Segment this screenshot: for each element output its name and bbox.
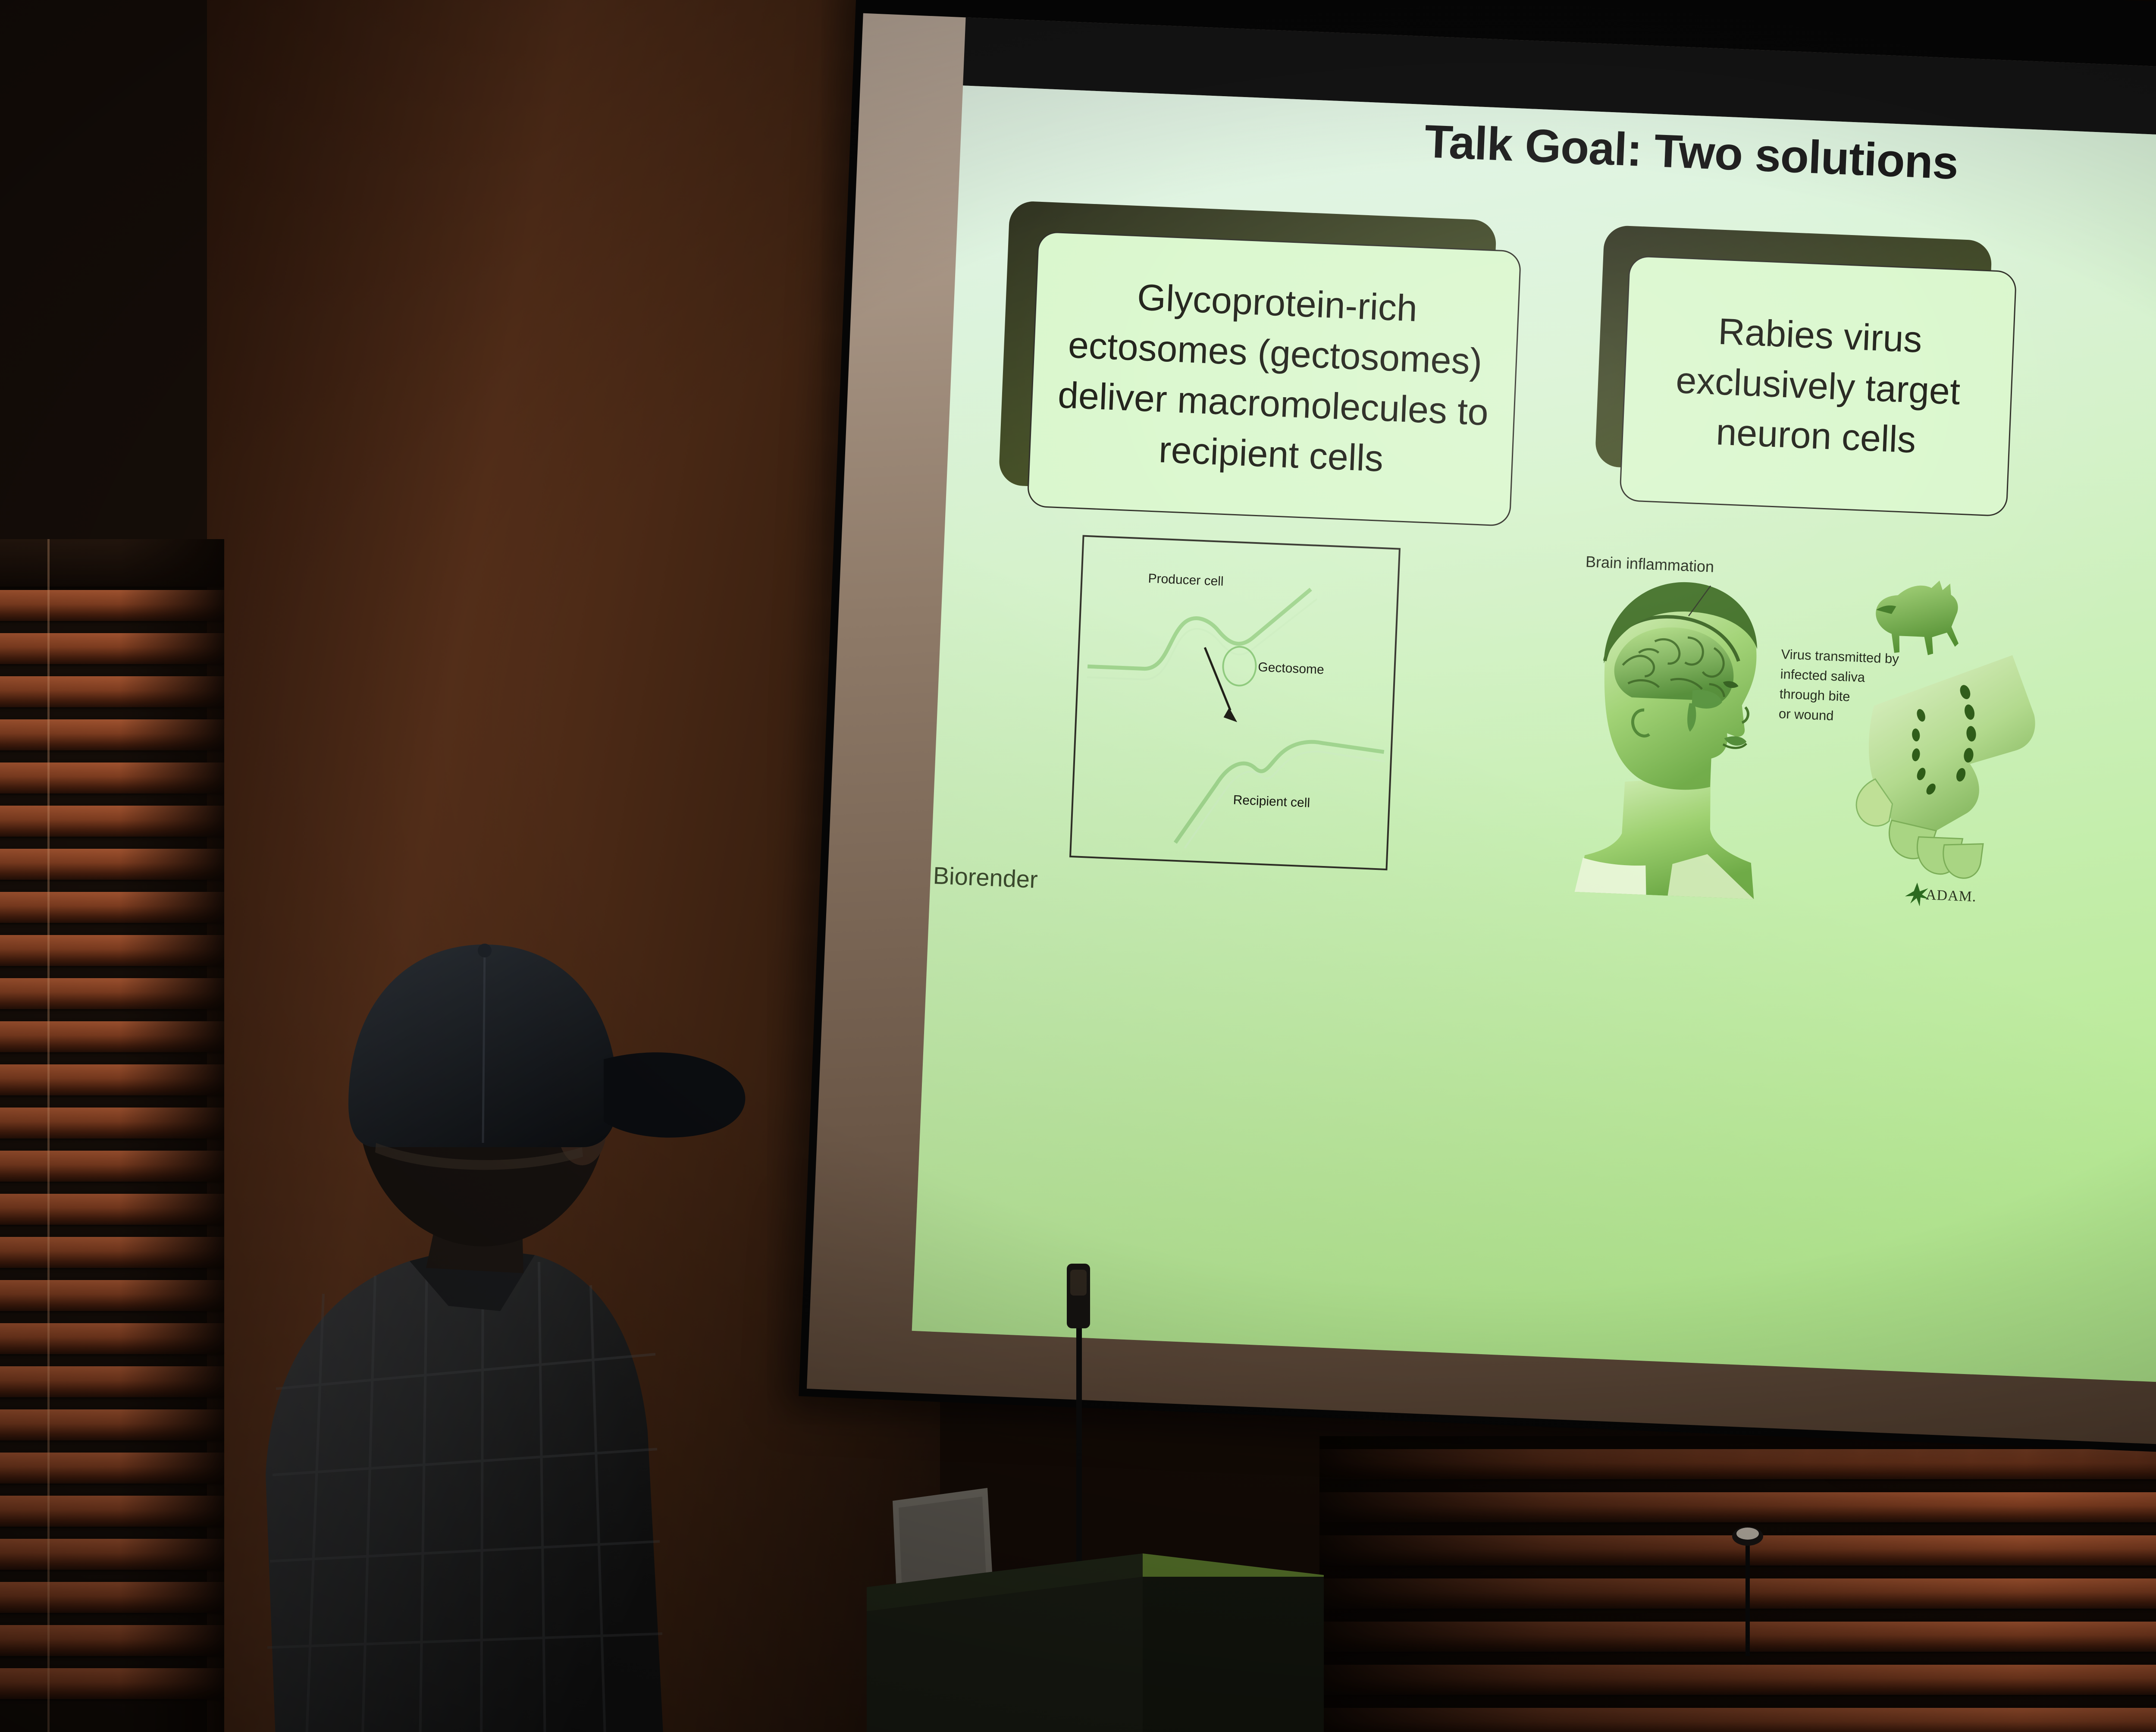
microphone-right [1716, 1514, 1785, 1656]
blind-cord-left[interactable] [47, 539, 50, 1732]
label-brain-inflammation: Brain inflammation [1585, 552, 1714, 575]
label-gectosome: Gectosome [1258, 660, 1325, 677]
label-transmission-line3: through bite [1779, 686, 1850, 704]
lecture-hall-room: Talk Goal: Two solutions Glycoprotein-ri… [0, 0, 2156, 1732]
gectosome-card: Glycoprotein-rich ectosomes (gectosomes)… [1027, 231, 1521, 527]
rabid-animal-figure [1874, 578, 1961, 656]
adam-rabies-illustration: Brain inflammation Virus transmitted by … [1569, 547, 2048, 911]
rabies-card-text: Rabies virus exclusively target neuron c… [1635, 303, 2001, 469]
speaker-person [224, 802, 828, 1732]
blind-headrail-left [0, 539, 224, 587]
venetian-blinds-left [0, 539, 224, 1732]
adam-logo-text: ADAM. [1925, 887, 1977, 905]
screen-surface: Talk Goal: Two solutions Glycoprotein-ri… [807, 13, 2156, 1453]
presentation-slide: Talk Goal: Two solutions Glycoprotein-ri… [912, 85, 2156, 1390]
biorender-caption: Biorender [933, 861, 1158, 898]
podium [867, 1535, 1324, 1732]
bitten-hand-figure [1854, 649, 2038, 881]
label-recipient-cell: Recipient cell [1233, 793, 1310, 810]
label-producer-cell: Producer cell [1148, 571, 1224, 589]
label-transmission-line4: or wound [1778, 706, 1834, 723]
gectosome-card-text: Glycoprotein-rich ectosomes (gectosomes)… [1045, 269, 1503, 489]
adam-logo: ADAM. [1905, 882, 1977, 909]
projection-screen: Talk Goal: Two solutions Glycoprotein-ri… [799, 0, 2156, 1462]
label-transmission-line1: Virus transmitted by [1781, 646, 1899, 666]
label-transmission-line2: infected saliva [1780, 666, 1865, 685]
rabies-card: Rabies virus exclusively target neuron c… [1619, 255, 2017, 517]
biorender-diagram: Producer cell Gectosome Recipient cell [1069, 535, 1401, 870]
head-with-brain-figure [1575, 578, 1767, 899]
